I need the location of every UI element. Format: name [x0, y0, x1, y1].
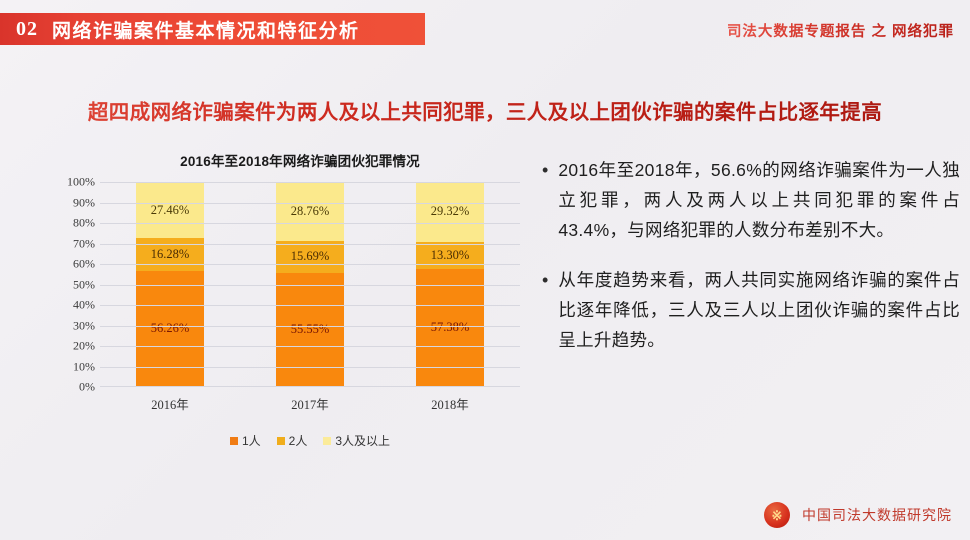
y-axis-tick: 50%: [73, 277, 95, 292]
gridline: [100, 285, 520, 286]
bar-segment-label: 57.38%: [416, 269, 484, 386]
gridline: [100, 346, 520, 347]
chart-plot-area: 0%10%20%30%40%50%60%70%80%90%100% 27.46%…: [50, 182, 520, 404]
bar-segment-label: 27.46%: [136, 182, 204, 238]
y-axis-tick: 10%: [73, 359, 95, 374]
section-title: 网络诈骗案件基本情况和特征分析: [52, 16, 360, 43]
note-text: 从年度趋势来看，两人共同实施网络诈骗的案件占比逐年降低，三人及三人以上团伙诈骗的…: [558, 265, 960, 355]
y-axis-labels: 0%10%20%30%40%50%60%70%80%90%100%: [50, 182, 98, 387]
note-text: 2016年至2018年，56.6%的网络诈骗案件为一人独立犯罪，两人及两人以上共…: [558, 155, 960, 245]
y-axis-tick: 60%: [73, 257, 95, 272]
x-axis-tick: 2018年: [416, 394, 484, 413]
bar-segment-label: 29.32%: [416, 182, 484, 242]
note-bullet: •2016年至2018年，56.6%的网络诈骗案件为一人独立犯罪，两人及两人以上…: [542, 155, 960, 245]
y-axis-tick: 0%: [79, 380, 95, 395]
organization-name: 中国司法大数据研究院: [802, 505, 952, 525]
chart-container: 2016年至2018年网络诈骗团伙犯罪情况 0%10%20%30%40%50%6…: [50, 150, 530, 480]
note-bullet: •从年度趋势来看，两人共同实施网络诈骗的案件占比逐年降低，三人及三人以上团伙诈骗…: [542, 265, 960, 355]
y-axis-tick: 90%: [73, 195, 95, 210]
bar-segment-label: 28.76%: [276, 182, 344, 241]
bar-segment-label: 15.69%: [276, 241, 344, 273]
legend-item[interactable]: 3人及以上: [323, 432, 390, 449]
plot-grid: 27.46%16.28%56.26%28.76%15.69%55.55%29.3…: [100, 182, 520, 387]
gridline: [100, 223, 520, 224]
chart-title: 2016年至2018年网络诈骗团伙犯罪情况: [50, 150, 530, 170]
report-label: 司法大数据专题报告 之 网络犯罪: [727, 20, 954, 41]
legend-swatch-icon: [230, 437, 238, 445]
section-number: 02: [16, 18, 38, 41]
slide-headline: 超四成网络诈骗案件为两人及以上共同犯罪，三人及以上团伙诈骗的案件占比逐年提高: [0, 95, 970, 125]
legend-label: 1人: [242, 432, 261, 449]
y-axis-tick: 80%: [73, 216, 95, 231]
legend-swatch-icon: [323, 437, 331, 445]
y-axis-tick: 30%: [73, 318, 95, 333]
x-axis-tick: 2016年: [136, 394, 204, 413]
y-axis-tick: 100%: [67, 175, 95, 190]
y-axis-tick: 40%: [73, 298, 95, 313]
section-header-banner: 02 网络诈骗案件基本情况和特征分析: [0, 13, 425, 45]
footer: ※ 中国司法大数据研究院: [764, 502, 952, 528]
gridline: [100, 264, 520, 265]
x-axis-labels: 2016年2017年2018年: [100, 394, 520, 413]
legend-item[interactable]: 2人: [277, 432, 308, 449]
emblem-glyph: ※: [772, 509, 783, 522]
legend-label: 3人及以上: [335, 432, 390, 449]
bullet-marker-icon: •: [542, 155, 548, 245]
legend-swatch-icon: [277, 437, 285, 445]
bar-segment-label: 55.55%: [276, 273, 344, 386]
x-axis-tick: 2017年: [276, 394, 344, 413]
legend-label: 2人: [289, 432, 308, 449]
gridline: [100, 367, 520, 368]
gridline: [100, 326, 520, 327]
gridline: [100, 203, 520, 204]
national-emblem-icon: ※: [764, 502, 790, 528]
bar-segment-label: 56.26%: [136, 271, 204, 386]
notes-list: •2016年至2018年，56.6%的网络诈骗案件为一人独立犯罪，两人及两人以上…: [542, 155, 960, 375]
chart-legend: 1人2人3人及以上: [100, 432, 520, 449]
legend-item[interactable]: 1人: [230, 432, 261, 449]
bullet-marker-icon: •: [542, 265, 548, 355]
gridline: [100, 305, 520, 306]
gridline: [100, 244, 520, 245]
y-axis-tick: 70%: [73, 236, 95, 251]
gridline: [100, 386, 520, 387]
y-axis-tick: 20%: [73, 339, 95, 354]
gridline: [100, 182, 520, 183]
